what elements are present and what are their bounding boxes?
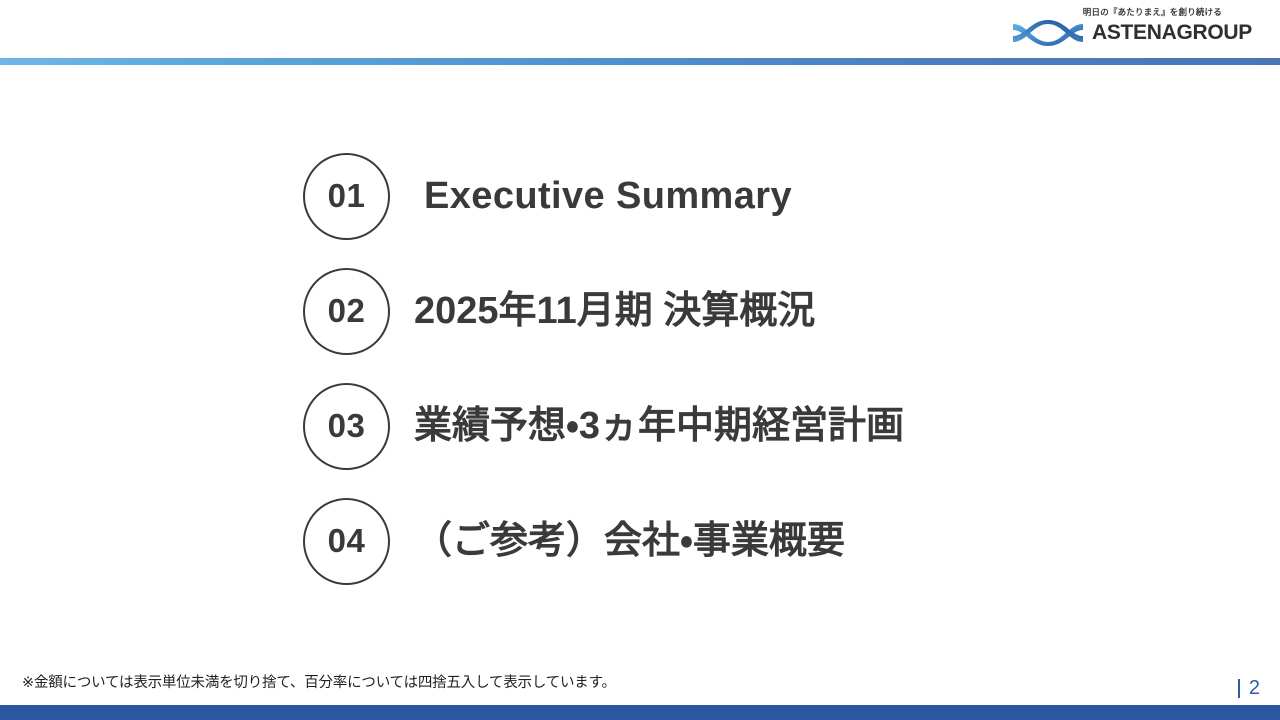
brand-row: ASTENAGROUP <box>1011 20 1252 46</box>
agenda-item-02[interactable]: 02 2025年11月期 決算概況 <box>303 267 1063 356</box>
agenda-label: 業績予想・3ヵ年中期経営計画 <box>414 406 904 448</box>
agenda-label: 2025年11月期 決算概況 <box>414 291 815 333</box>
brand-lockup: 明日の『あたりまえ』を創り続ける <box>1011 8 1252 46</box>
agenda-label: （ご参考）会社・事業概要 <box>414 521 845 563</box>
agenda-number: 03 <box>328 409 366 442</box>
brand-name: ASTENAGROUP <box>1092 22 1252 43</box>
agenda-item-04[interactable]: 04 （ご参考）会社・事業概要 <box>303 497 1063 586</box>
agenda-number-badge: 01 <box>303 153 390 240</box>
header-accent-rule <box>0 58 1280 65</box>
agenda-number: 01 <box>328 179 366 212</box>
agenda-label: Executive Summary <box>424 176 792 218</box>
agenda-item-01[interactable]: 01 Executive Summary <box>303 152 1063 241</box>
agenda-item-03[interactable]: 03 業績予想・3ヵ年中期経営計画 <box>303 382 1063 471</box>
page-number-value: 2 <box>1249 678 1260 698</box>
footer-accent-bar <box>0 705 1280 720</box>
agenda-number-badge: 02 <box>303 268 390 355</box>
astena-infinity-ribbon-icon <box>1011 20 1085 46</box>
footnote-text: ※金額については表示単位未満を切り捨て、百分率については四捨五入して表示していま… <box>22 675 616 692</box>
agenda-number: 04 <box>328 524 366 557</box>
page-number-separator-icon <box>1238 679 1240 698</box>
brand-tagline: 明日の『あたりまえ』を創り続ける <box>1083 8 1222 17</box>
agenda-number-badge: 03 <box>303 383 390 470</box>
agenda-number: 02 <box>328 294 366 327</box>
page-number: 2 <box>1238 678 1260 698</box>
slide-agenda: 明日の『あたりまえ』を創り続ける <box>0 0 1280 720</box>
agenda-number-badge: 04 <box>303 498 390 585</box>
slide-header: 明日の『あたりまえ』を創り続ける <box>0 0 1280 58</box>
agenda-list: 01 Executive Summary 02 2025年11月期 決算概況 0… <box>303 152 1063 586</box>
